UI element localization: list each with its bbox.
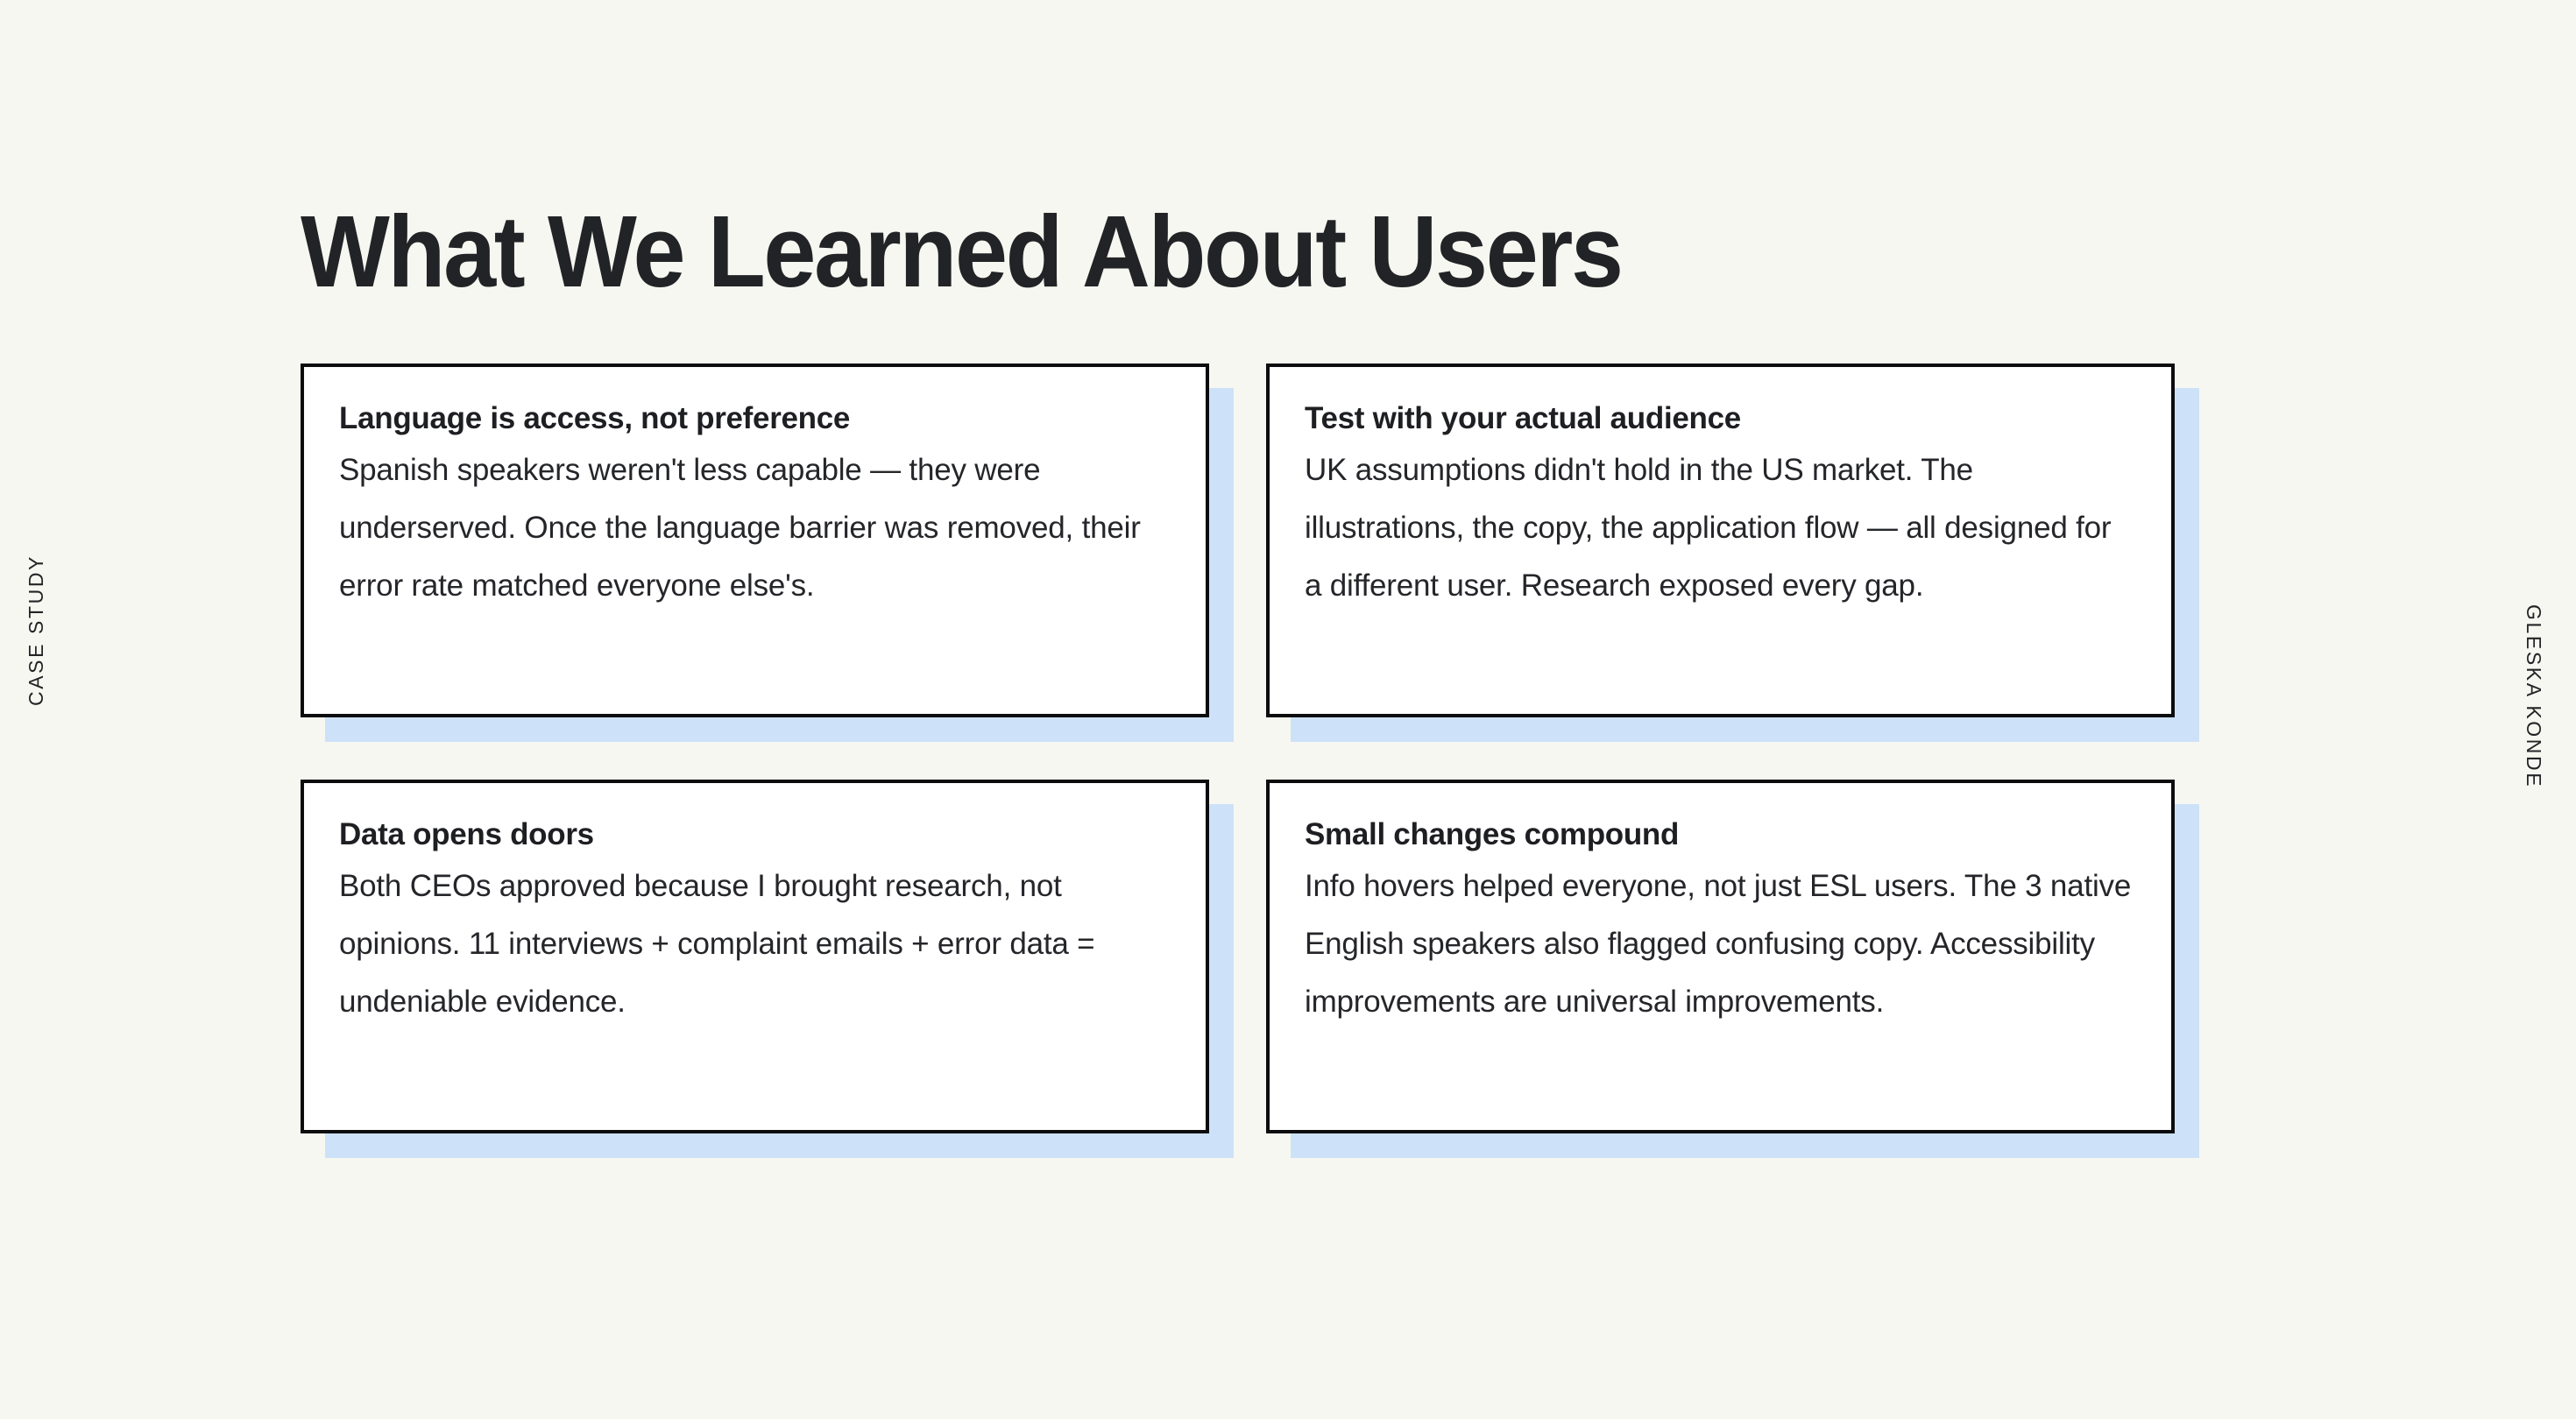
side-label-case-study: CASE STUDY (25, 554, 48, 706)
side-label-brand: GLESKA KONDE (2522, 604, 2545, 788)
card-heading: Test with your actual audience (1305, 400, 2136, 436)
insight-card-language-is-access[interactable]: Language is access, not preference Spani… (301, 364, 1209, 717)
card-body: Spanish speakers weren't less capable — … (339, 441, 1171, 615)
card-slot-4: Small changes compound Info hovers helpe… (1266, 780, 2199, 1158)
card-slot-3: Data opens doors Both CEOs approved beca… (301, 780, 1234, 1158)
insight-card-small-changes-compound[interactable]: Small changes compound Info hovers helpe… (1266, 780, 2175, 1133)
card-heading: Data opens doors (339, 816, 1171, 852)
page-title: What We Learned About Users (301, 200, 1622, 303)
card-heading: Small changes compound (1305, 816, 2136, 852)
card-body: UK assumptions didn't hold in the US mar… (1305, 441, 2136, 615)
insight-card-data-opens-doors[interactable]: Data opens doors Both CEOs approved beca… (301, 780, 1209, 1133)
slide-root: CASE STUDY GLESKA KONDE What We Learned … (0, 0, 2576, 1419)
card-slot-1: Language is access, not preference Spani… (301, 364, 1234, 742)
card-body: Info hovers helped everyone, not just ES… (1305, 858, 2136, 1031)
insight-card-grid: Language is access, not preference Spani… (301, 364, 2199, 1158)
card-heading: Language is access, not preference (339, 400, 1171, 436)
card-slot-2: Test with your actual audience UK assump… (1266, 364, 2199, 742)
insight-card-test-with-actual-audience[interactable]: Test with your actual audience UK assump… (1266, 364, 2175, 717)
card-body: Both CEOs approved because I brought res… (339, 858, 1171, 1031)
